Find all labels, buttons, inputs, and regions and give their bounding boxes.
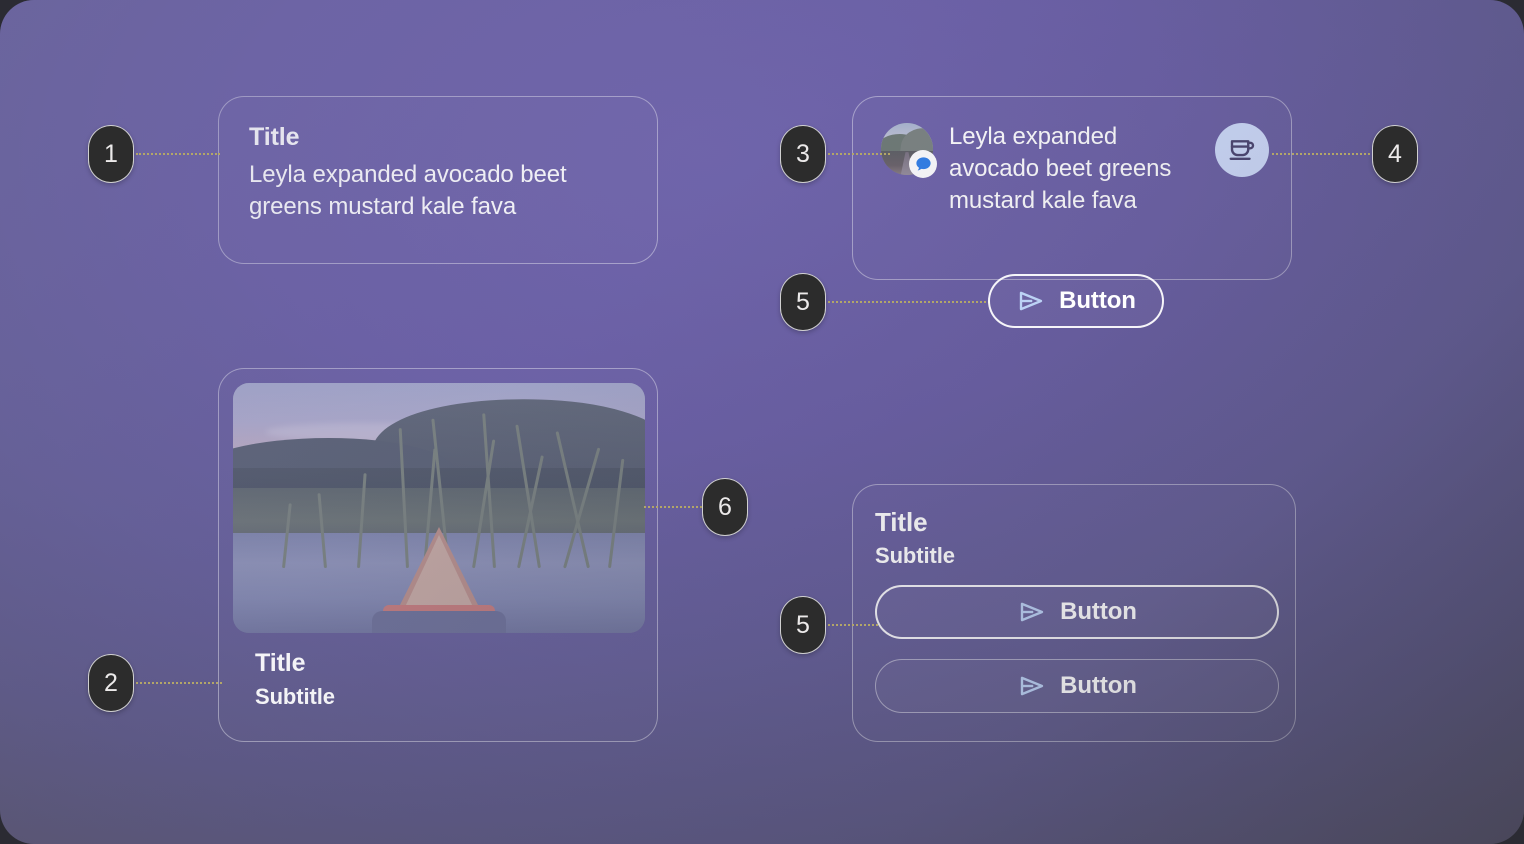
action-button-primary-label: Button — [1060, 598, 1137, 626]
text-card[interactable]: Title Leyla expanded avocado beet greens… — [218, 96, 658, 264]
annotation-badge-5a[interactable]: 5 — [780, 273, 826, 331]
text-card-title: Title — [249, 123, 627, 152]
annotation-badge-6[interactable]: 6 — [702, 478, 748, 536]
action-button-primary[interactable]: Button — [875, 585, 1279, 639]
annotation-badge-4[interactable]: 4 — [1372, 125, 1418, 183]
design-annotation-canvas: Title Leyla expanded avocado beet greens… — [0, 0, 1524, 844]
connector-5b — [828, 624, 878, 626]
actions-card-subtitle: Subtitle — [875, 543, 1275, 569]
connector-1 — [136, 153, 220, 155]
action-button-secondary-label: Button — [1060, 672, 1137, 700]
connector-6 — [644, 506, 706, 508]
annotation-badge-3[interactable]: 3 — [780, 125, 826, 183]
connector-5a — [828, 301, 990, 303]
avatar-card[interactable]: Leyla expanded avocado beet greens musta… — [852, 96, 1292, 280]
floating-button-label: Button — [1059, 287, 1136, 315]
chat-bubble-icon — [909, 150, 937, 178]
text-card-body: Leyla expanded avocado beet greens musta… — [249, 159, 627, 223]
media-card-title: Title — [255, 649, 643, 678]
annotation-badge-5b[interactable]: 5 — [780, 596, 826, 654]
media-card-subtitle: Subtitle — [255, 684, 643, 710]
actions-card-title: Title — [875, 507, 1275, 538]
action-button-secondary[interactable]: Button — [875, 659, 1279, 713]
avatar-card-body: Leyla expanded avocado beet greens musta… — [949, 121, 1181, 217]
connector-4 — [1272, 153, 1374, 155]
actions-card[interactable]: Title Subtitle Button Button — [852, 484, 1296, 742]
avatar — [881, 123, 933, 175]
coffee-cup-icon[interactable] — [1215, 123, 1269, 177]
floating-button[interactable]: Button — [988, 274, 1164, 328]
connector-3 — [828, 153, 890, 155]
annotation-badge-1[interactable]: 1 — [88, 125, 134, 183]
media-card[interactable]: Title Subtitle — [218, 368, 658, 742]
annotation-badge-2[interactable]: 2 — [88, 654, 134, 712]
media-card-image — [233, 383, 645, 633]
connector-2 — [136, 682, 222, 684]
